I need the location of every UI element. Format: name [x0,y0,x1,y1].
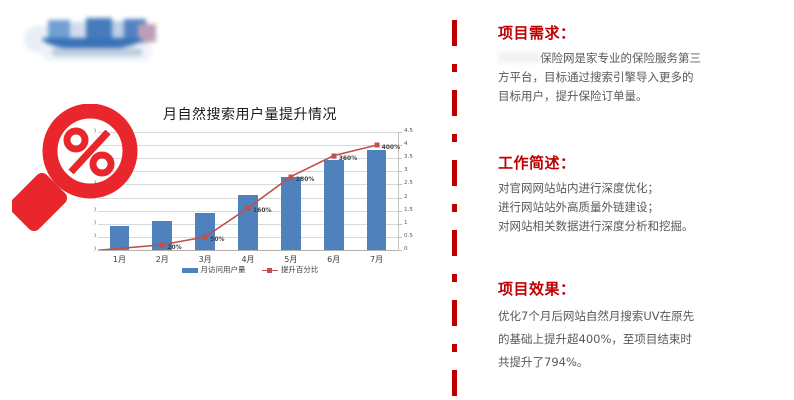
line-data-label: 160% [253,207,272,214]
section-line: 共提升了794%。 [498,351,782,374]
axis-tick [399,132,402,133]
right-axis-tick-label: 4 [404,142,408,148]
axis-tick [399,158,402,159]
section-line: 的基础上提升超400%，至项目结束时 [498,328,782,351]
axis-tick [399,198,402,199]
section-line: 优化7个月后网站自然月搜索UV在原先 [498,305,782,328]
left-panel: 月自然搜索用户量提升情况 0)0.5)1)1.5)2)2.5)3)3.5)4)4… [0,0,446,400]
axis-tick [399,184,402,185]
section-line: 对官网网站站内进行深度优化； [498,179,782,198]
axis-tick [399,250,402,251]
right-axis-tick-label: 4.5 [404,129,413,135]
legend-label-bars: 月访问用户量 [201,265,246,274]
left-axis-tick-label: ) [94,234,96,240]
chart-legend: 月访问用户量 提升百分比 [70,264,430,275]
section-body: 对官网网站站内进行深度优化； 进行网站站外高质量外链建设； 对网站相关数据进行深… [498,179,782,236]
left-axis-tick-label: ) [94,247,96,253]
right-panel: 项目需求： 保险网是家专业的保险服务第三 方平台，目标通过搜索引擎导入更多的 目… [470,0,782,400]
divider-dash [452,344,457,352]
section-project-need: 项目需求： 保险网是家专业的保险服务第三 方平台，目标通过搜索引擎导入更多的 目… [498,22,782,106]
magnifier-percent-icon [12,104,144,232]
right-axis-tick-label: 3.5 [404,155,413,161]
axis-tick [399,237,402,238]
section-line: 方平台，目标通过搜索引擎导入更多的 [498,68,782,87]
legend-bar-swatch [182,268,198,273]
divider-dash [452,300,457,326]
redaction-block [498,52,540,63]
section-title: 工作简述： [498,152,782,173]
line-data-label: 360% [339,155,358,162]
divider-dash [452,134,457,142]
section-line: 目标用户，提升保险订单量。 [498,87,782,106]
logo-wordmark [52,48,142,56]
divider-dash [452,274,457,282]
divider-dash [452,204,457,212]
right-axis-tick-label: 3 [404,168,408,174]
line-data-point [288,174,293,179]
section-body: 优化7个月后网站自然月搜索UV在原先 的基础上提升超400%，至项目结束时 共提… [498,305,782,374]
line-data-label: 20% [167,244,181,251]
axis-tick [399,224,402,225]
section-work-summary: 工作简述： 对官网网站站内进行深度优化； 进行网站站外高质量外链建设； 对网站相… [498,152,782,236]
divider-dash [452,230,457,256]
right-axis-tick-label: 0 [404,247,408,253]
section-line: 保险网是家专业的保险服务第三 [498,49,782,68]
right-axis-tick-label: 2.5 [404,181,413,187]
section-line: 进行网站站外高质量外链建设； [498,198,782,217]
vertical-dashed-divider [452,0,457,400]
right-axis-tick-label: 2 [404,195,408,201]
line-data-point [160,242,165,247]
axis-tick [399,171,402,172]
company-logo [18,8,158,66]
divider-dash [452,90,457,116]
legend-item-line: 提升百分比 [262,264,319,275]
divider-dash [452,64,457,72]
legend-line-swatch [262,268,278,273]
legend-label-line: 提升百分比 [281,265,319,274]
right-axis-tick-label: 0.5 [404,234,413,240]
right-axis-tick-label: 1 [404,221,408,227]
line-data-label: 400% [382,144,401,151]
line-data-label: 280% [296,176,315,183]
section-body: 保险网是家专业的保险服务第三 方平台，目标通过搜索引擎导入更多的 目标用户，提升… [498,49,782,106]
section-line: 对网站相关数据进行深度分析和挖掘。 [498,217,782,236]
section-title: 项目需求： [498,22,782,43]
x-axis-line [98,250,398,251]
section-title: 项目效果： [498,278,782,299]
axis-tick [399,211,402,212]
divider-dash [452,370,457,396]
right-axis-tick-label: 1.5 [404,208,413,214]
section-line-text: 保险网是家专业的保险服务第三 [540,51,701,65]
line-data-point [246,206,251,211]
line-data-point [203,234,208,239]
section-project-result: 项目效果： 优化7个月后网站自然月搜索UV在原先 的基础上提升超400%，至项目… [498,278,782,374]
line-data-point [331,153,336,158]
divider-dash [452,160,457,186]
line-data-label: 50% [210,236,224,243]
legend-item-bars: 月访问用户量 [182,264,246,275]
line-data-point [374,143,379,148]
divider-dash [452,20,457,46]
